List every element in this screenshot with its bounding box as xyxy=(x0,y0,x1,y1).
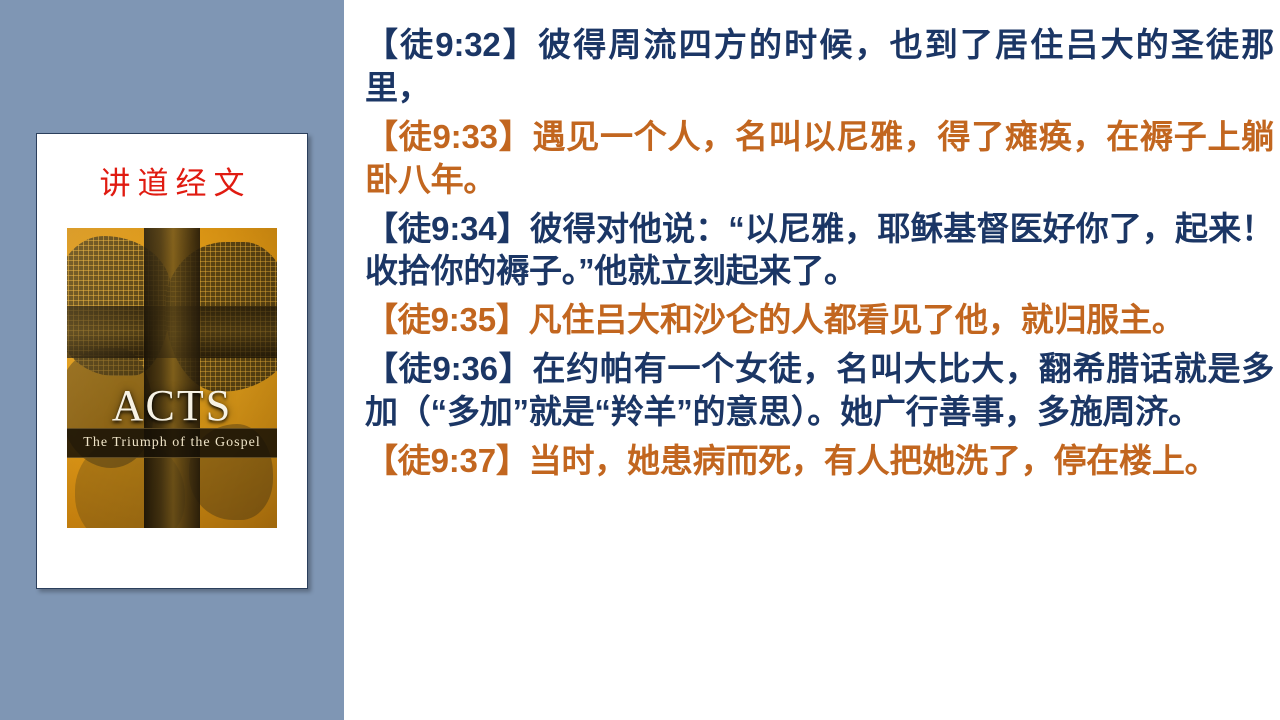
scripture-panel: 【徒9:32】彼得周流四方的时候，也到了居住吕大的圣徒那里， 【徒9:33】遇见… xyxy=(344,0,1280,720)
cover-subtitle: The Triumph of the Gospel xyxy=(83,435,260,451)
sidebar-panel: 讲道经文 ACTS The Triumph of the Gospel xyxy=(0,0,344,720)
acts-book-cover-image: ACTS The Triumph of the Gospel xyxy=(67,228,277,528)
cover-subtitle-band: The Triumph of the Gospel xyxy=(67,428,277,458)
verse-paragraph: 【徒9:34】彼得对他说：“以尼雅，耶稣基督医好你了，起来！收拾你的褥子。”他就… xyxy=(365,208,1274,294)
cover-glare-overlay xyxy=(67,228,277,528)
card-title: 讲道经文 xyxy=(93,166,252,202)
verse-paragraph: 【徒9:36】在约帕有一个女徒，名叫大比大，翻希腊话就是多加（“多加”就是“羚羊… xyxy=(365,348,1274,434)
verse-paragraph: 【徒9:32】彼得周流四方的时候，也到了居住吕大的圣徒那里， xyxy=(365,24,1274,110)
cover-title: ACTS xyxy=(67,384,277,428)
verse-paragraph: 【徒9:37】当时，她患病而死，有人把她洗了，停在楼上。 xyxy=(365,440,1274,483)
presentation-slide: 讲道经文 ACTS The Triumph of the Gospel 【徒9:… xyxy=(0,0,1280,720)
verse-paragraph: 【徒9:33】遇见一个人，名叫以尼雅，得了瘫痪，在褥子上躺卧八年。 xyxy=(365,116,1274,202)
sermon-text-card: 讲道经文 ACTS The Triumph of the Gospel xyxy=(36,133,308,589)
verse-paragraph: 【徒9:35】凡住吕大和沙仑的人都看见了他，就归服主。 xyxy=(365,299,1274,342)
